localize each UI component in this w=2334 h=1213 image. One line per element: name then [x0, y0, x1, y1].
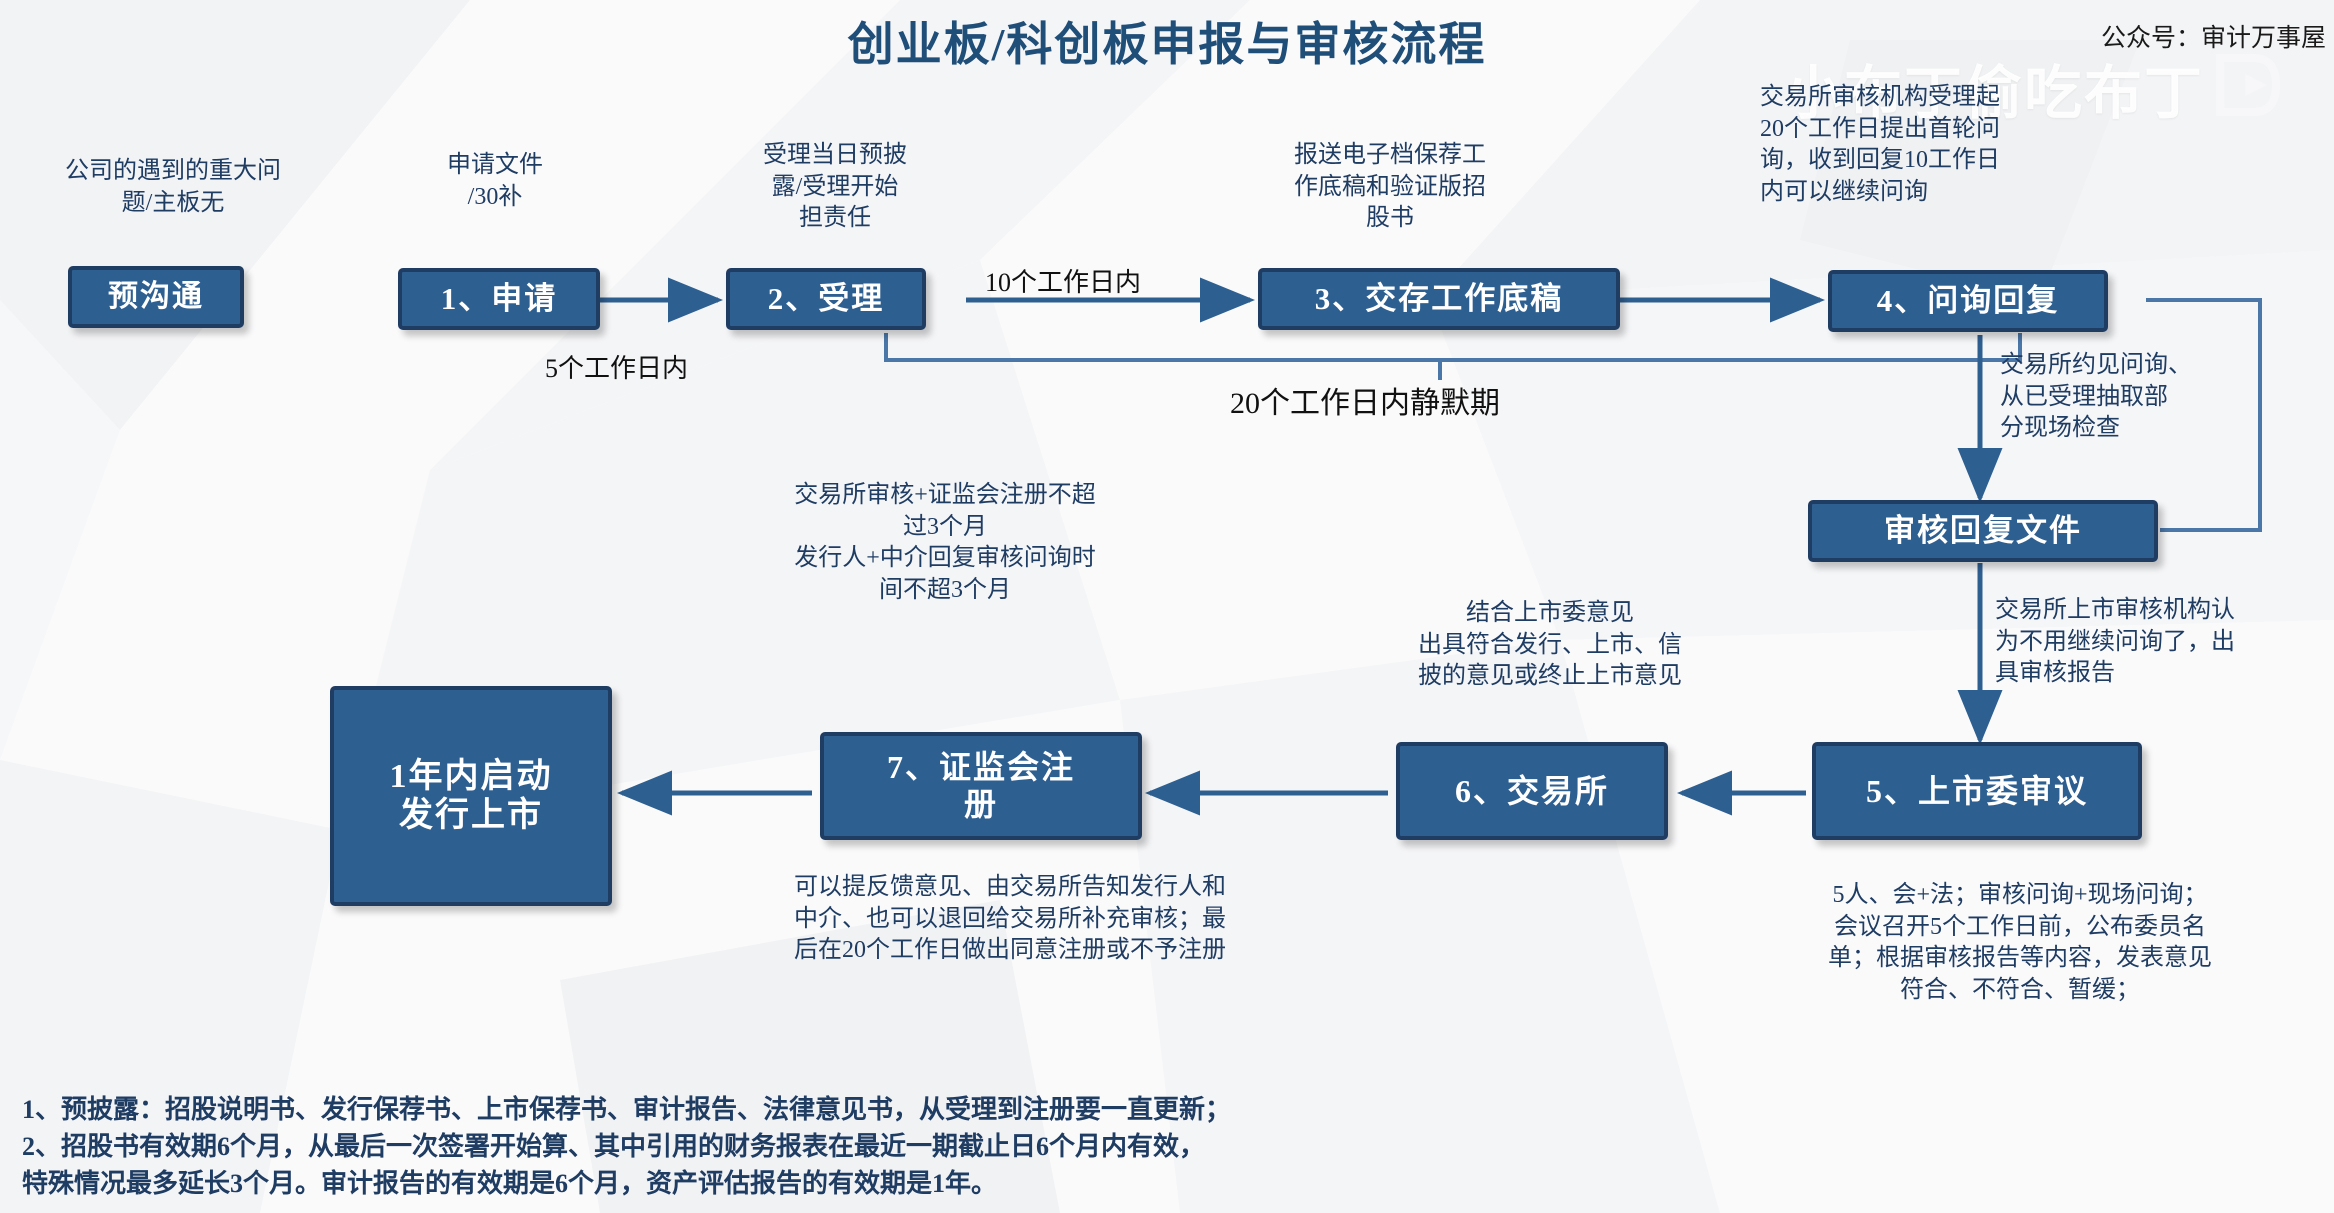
node-review-reply-document[interactable]: 审核回复文件 [1808, 500, 2158, 562]
note-inquiry-to-review-doc: 交易所约见问询、 从已受理抽取部 分现场检查 [2000, 350, 2300, 445]
flowchart-canvas: 创业板/科创板申报与审核流程 公众号：审计万事屋 小布丁偷吃布丁 公司的遇到的重… [0, 0, 2334, 1213]
note-exchange-opinion: 结合上市委意见 出具符合发行、上市、信 披的意见或终止上市意见 [1320, 598, 1780, 693]
node-final-listing[interactable]: 1年内启动 发行上市 [330, 686, 612, 906]
note-inquiry-reply: 交易所审核机构受理起 20个工作日提出首轮问 询，收到回复10工作日 内可以继续… [1760, 82, 2120, 209]
node-3-working-papers[interactable]: 3、交存工作底稿 [1258, 268, 1620, 330]
note-overall-duration: 交易所审核+证监会注册不超 过3个月 发行人+中介回复审核问询时 间不超3个月 [690, 480, 1200, 607]
note-listing-committee: 5人、会+法；审核问询+现场问询； 会议召开5个工作日前，公布委员名 单；根据审… [1730, 880, 2310, 1007]
node-1-application[interactable]: 1、申请 [398, 268, 600, 330]
note-csrc-registration: 可以提反馈意见、由交易所告知发行人和 中介、也可以退回给交易所补充审核；最 后在… [680, 872, 1340, 967]
edge-label-2-to-3: 10个工作日内 [985, 262, 1141, 299]
note-working-papers: 报送电子档保荐工 作底稿和验证版招 股书 [1230, 140, 1550, 235]
node-6-exchange[interactable]: 6、交易所 [1396, 742, 1668, 840]
edge-label-1-to-2: 5个工作日内 [545, 348, 688, 385]
node-pre-communication[interactable]: 预沟通 [68, 266, 244, 328]
node-4-inquiry-reply[interactable]: 4、问询回复 [1828, 270, 2108, 332]
node-2-acceptance[interactable]: 2、受理 [726, 268, 926, 330]
note-application: 申请文件 /30补 [370, 150, 620, 213]
edge-label-quiet-period: 20个工作日内静默期 [1230, 378, 1500, 422]
node-7-csrc-registration[interactable]: 7、证监会注 册 [820, 732, 1142, 840]
note-review-doc-to-committee: 交易所上市审核机构认 为不用继续问询了，出 具审核报告 [1995, 595, 2325, 690]
node-5-listing-committee[interactable]: 5、上市委审议 [1812, 742, 2142, 840]
footnotes: 1、预披露：招股说明书、发行保荐书、上市保荐书、审计报告、法律意见书，从受理到注… [22, 1092, 1231, 1203]
page-title: 创业板/科创板申报与审核流程 [0, 8, 2334, 74]
note-pre-communication: 公司的遇到的重大问 题/主板无 [18, 156, 328, 219]
account-tag: 公众号：审计万事屋 [2101, 18, 2326, 54]
note-acceptance: 受理当日预披 露/受理开始 担责任 [690, 140, 980, 235]
